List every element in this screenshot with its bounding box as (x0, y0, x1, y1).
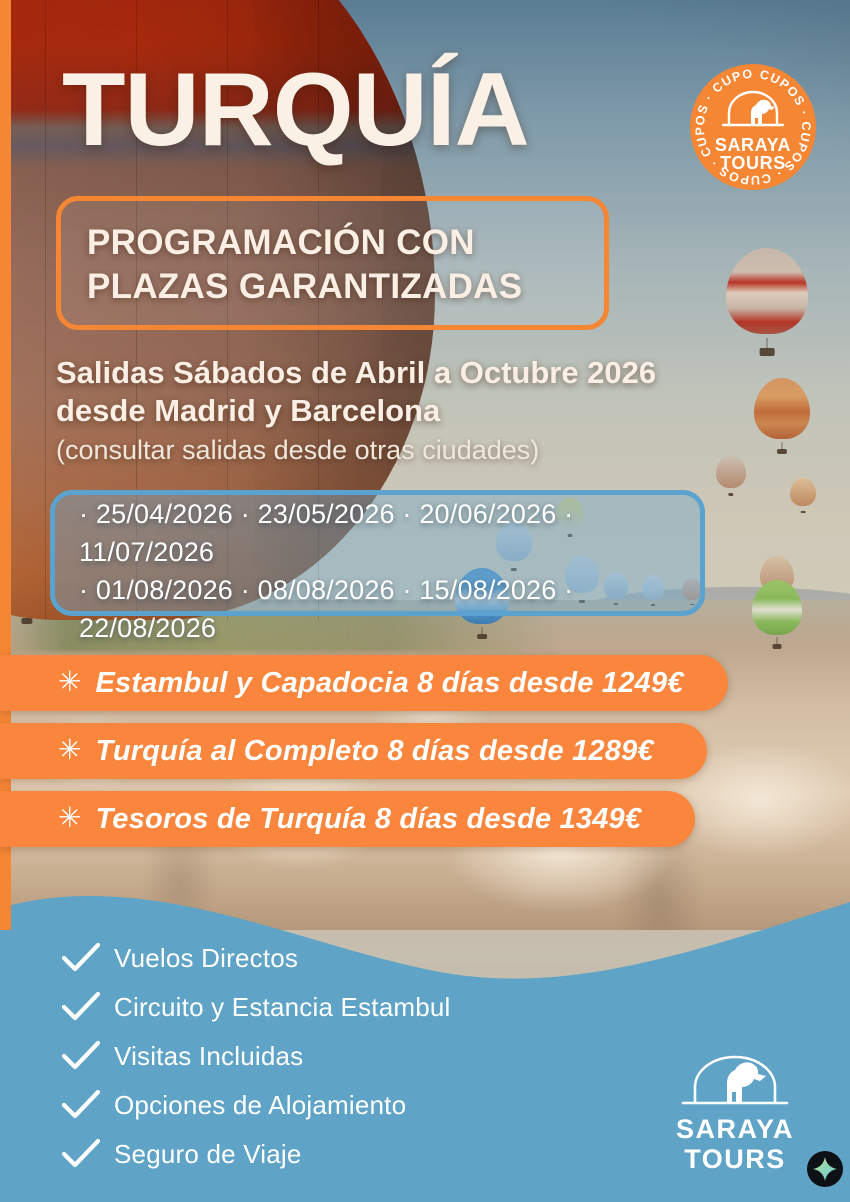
feature-item: Seguro de Viaje (60, 1132, 451, 1176)
check-icon (60, 1137, 102, 1171)
footer-logo-line-1: SARAYA (655, 1114, 815, 1144)
footer-logo-line-2: TOURS (655, 1144, 815, 1174)
camel-arch-icon (655, 1053, 815, 1109)
star-bullet-icon: ✳ (58, 736, 81, 764)
dates-row: · 25/04/2026 · 23/05/2026 · 20/06/2026 ·… (55, 495, 700, 571)
footer-logo: SARAYA TOURS (655, 1053, 815, 1173)
feature-label: Opciones de Alojamiento (114, 1090, 406, 1121)
ai-sparkle-icon (806, 1150, 844, 1188)
promo-box: PROGRAMACIÓN CON PLAZAS GARANTIZADAS (56, 196, 609, 330)
feature-item: Opciones de Alojamiento (60, 1083, 451, 1127)
feature-label: Vuelos Directos (114, 943, 298, 974)
features-list: Vuelos Directos Circuito y Estancia Esta… (60, 936, 451, 1181)
feature-label: Seguro de Viaje (114, 1139, 302, 1170)
offer-bar-2[interactable]: ✳ Turquía al Completo 8 días desde 1289€ (0, 723, 707, 779)
dates-row: · 01/08/2026 · 08/08/2026 · 15/08/2026 ·… (55, 571, 700, 647)
cupos-badge: CUPOS · CUPOS · CUPOS · CUPOS · CUPOS · … (689, 63, 817, 191)
offer-label: Estambul y Capadocia 8 días desde 1249€ (95, 667, 683, 700)
promo-line-2: PLAZAS GARANTIZADAS (87, 265, 522, 309)
departures-line-1: Salidas Sábados de Abril a Octubre 2026 (56, 354, 656, 392)
star-bullet-icon: ✳ (58, 804, 81, 832)
offer-label: Tesoros de Turquía 8 días desde 1349€ (95, 803, 641, 836)
feature-item: Vuelos Directos (60, 936, 451, 980)
feature-label: Visitas Incluidas (114, 1041, 303, 1072)
feature-label: Circuito y Estancia Estambul (114, 992, 451, 1023)
departures-block: Salidas Sábados de Abril a Octubre 2026 … (56, 354, 656, 468)
svg-text:SARAYA: SARAYA (715, 135, 791, 155)
check-icon (60, 990, 102, 1024)
svg-text:TOURS: TOURS (720, 153, 786, 173)
check-icon (60, 1088, 102, 1122)
check-icon (60, 941, 102, 975)
offer-label: Turquía al Completo 8 días desde 1289€ (95, 735, 653, 768)
travel-poster: TURQUÍA CUPOS · CUPOS · CUPOS · CUPOS · … (0, 0, 850, 1202)
star-bullet-icon: ✳ (58, 668, 81, 696)
check-icon (60, 1039, 102, 1073)
departures-line-2: desde Madrid y Barcelona (56, 392, 656, 430)
offer-bar-3[interactable]: ✳ Tesoros de Turquía 8 días desde 1349€ (0, 791, 695, 847)
promo-line-1: PROGRAMACIÓN CON (87, 221, 522, 265)
feature-item: Visitas Incluidas (60, 1034, 451, 1078)
offer-bar-1[interactable]: ✳ Estambul y Capadocia 8 días desde 1249… (0, 655, 728, 711)
feature-item: Circuito y Estancia Estambul (60, 985, 451, 1029)
departures-note: (consultar salidas desde otras ciudades) (56, 432, 656, 468)
dates-box: · 25/04/2026 · 23/05/2026 · 20/06/2026 ·… (50, 490, 705, 616)
page-title: TURQUÍA (62, 58, 529, 162)
